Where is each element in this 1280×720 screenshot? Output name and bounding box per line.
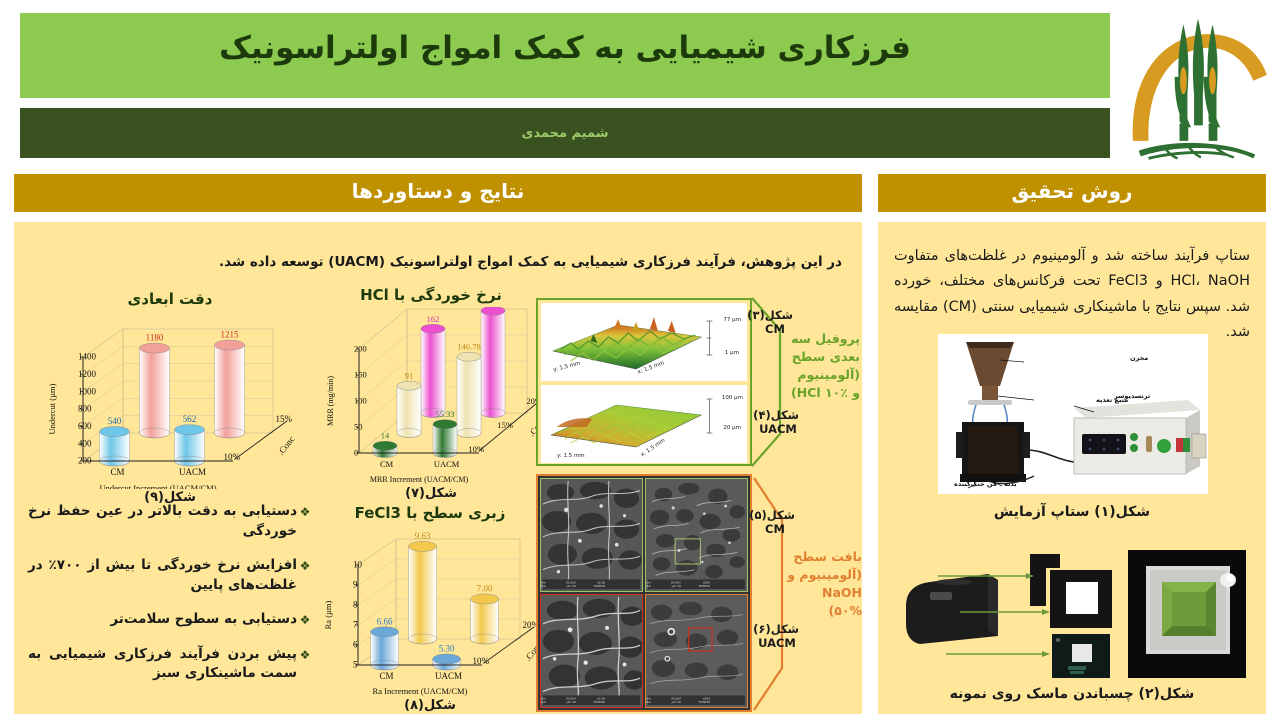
sem-uacm-figure-tag: شکل(۶) UACM bbox=[755, 622, 799, 651]
sem-uacm-method: UACM bbox=[755, 636, 799, 650]
list-item: ❖ افزایش نرخ خوردگی تا بیش از ۷۰۰٪ در غل… bbox=[28, 556, 313, 595]
chart-roughness-plot: 5678910Ra (µm)9.637.006.665.30CMUACMRa I… bbox=[316, 525, 544, 697]
profile-group-caption: پروفیل سه بعدی سطح (آلومینیوم و HCl ۱۰٪) bbox=[786, 330, 860, 403]
university-logo-icon bbox=[1118, 5, 1276, 170]
poster-author-band: شمیم محمدی bbox=[20, 108, 1110, 158]
chart-roughness-title: زبری سطح با FeCl3 bbox=[314, 504, 546, 522]
chart-mrr-title: نرخ خوردگی با HCl bbox=[317, 286, 545, 304]
setup-label-reservoir: مخزن bbox=[1130, 354, 1148, 362]
svg-text:91: 91 bbox=[405, 371, 414, 381]
svg-text:SEM MAG: SEM MAG bbox=[646, 700, 651, 704]
svg-text:50 µm: 50 µm bbox=[672, 700, 681, 704]
svg-text:1000: 1000 bbox=[78, 386, 97, 396]
sem-figure-group: WD 10.5mm20.0kVx500 SEM MAG50 µmTM3030 bbox=[536, 474, 752, 712]
chart-roughness: زبری سطح با FeCl3 5678910Ra (µm)9.637.00… bbox=[314, 504, 546, 713]
svg-text:600: 600 bbox=[78, 421, 92, 431]
setup-label-body: بدنه bbox=[1004, 480, 1017, 488]
bullet-text: افزایش نرخ خوردگی تا بیش از ۷۰۰٪ در غلظت… bbox=[28, 556, 297, 595]
poster-title-band: فرزکاری شیمیایی به کمک امواج اولتراسونیک bbox=[20, 13, 1110, 98]
svg-text:200: 200 bbox=[354, 344, 367, 354]
svg-text:Undercut Increment (UACM/CM): Undercut Increment (UACM/CM) bbox=[99, 483, 216, 489]
svg-text:7: 7 bbox=[353, 620, 358, 630]
svg-text:15%: 15% bbox=[276, 414, 293, 424]
svg-text:Ra Increment (UACM/CM): Ra Increment (UACM/CM) bbox=[373, 686, 468, 696]
svg-text:10%: 10% bbox=[224, 452, 241, 462]
experimental-setup-caption: شکل(۱) ستاپ آزمایش bbox=[878, 504, 1266, 520]
svg-text:100: 100 bbox=[354, 396, 367, 406]
method-panel: ستاپ فرآیند ساخته شد و آلومینیوم در غلظت… bbox=[878, 222, 1266, 714]
svg-text:Undercut (µm): Undercut (µm) bbox=[47, 383, 57, 434]
svg-text:SEM MAG: SEM MAG bbox=[541, 584, 546, 588]
sem-cm-figure-tag: شکل(۵) CM bbox=[755, 508, 795, 537]
poster-title: فرزکاری شیمیایی به کمک امواج اولتراسونیک bbox=[20, 30, 1110, 82]
section-header-method: روش تحقیق bbox=[878, 174, 1266, 212]
list-item: ❖ پیش بردن فرآیند فرزکاری شیمیایی به سمت… bbox=[28, 645, 313, 684]
profile-uacm-zmax-label: 100 µm bbox=[722, 395, 743, 401]
svg-text:CM: CM bbox=[380, 459, 394, 469]
svg-text:20 µm: 20 µm bbox=[567, 700, 576, 704]
chart-undercut-title: دقت ابعادی bbox=[36, 290, 304, 308]
svg-text:UACM: UACM bbox=[179, 467, 206, 477]
svg-text:146.78: 146.78 bbox=[457, 342, 480, 352]
section-header-method-label: روش تحقیق bbox=[1012, 179, 1133, 208]
results-intro-text: در این پژوهش، فرآیند فرزکاری شیمیایی به … bbox=[34, 252, 842, 272]
svg-text:TM3030: TM3030 bbox=[592, 584, 605, 588]
svg-text:162: 162 bbox=[427, 314, 440, 324]
method-body-text: ستاپ فرآیند ساخته شد و آلومینیوم در غلظت… bbox=[894, 244, 1250, 346]
chart-undercut-plot: 200400600800100012001400Undercut (µm)118… bbox=[39, 311, 301, 489]
svg-text:7.00: 7.00 bbox=[477, 584, 493, 594]
svg-text:MRR (mg/min): MRR (mg/min) bbox=[326, 376, 335, 426]
bullet-text: دستیابی به دقت بالاتر در عین حفظ نرخ خور… bbox=[28, 502, 297, 541]
svg-text:Conc.: Conc. bbox=[276, 434, 297, 457]
svg-text:TM3030: TM3030 bbox=[697, 700, 710, 704]
bullet-marker-icon: ❖ bbox=[297, 502, 313, 519]
svg-text:10%: 10% bbox=[468, 444, 484, 454]
bullet-text: پیش بردن فرآیند فرزکاری شیمیایی به سمت م… bbox=[28, 645, 297, 684]
sem-group-caption: بافت سطح (آلومینیوم و NaOH ۵۰%) bbox=[786, 548, 862, 621]
profile-uacm-yaxis-label: y: 1.5 mm bbox=[557, 453, 585, 459]
bullet-marker-icon: ❖ bbox=[297, 556, 313, 573]
profile-uacm-fig-number: شکل(۴) bbox=[757, 408, 799, 422]
svg-text:5.30: 5.30 bbox=[439, 644, 455, 654]
svg-text:10%: 10% bbox=[473, 656, 490, 666]
profile-uacm-figure-tag: شکل(۴) UACM bbox=[757, 408, 799, 437]
svg-text:TM3030: TM3030 bbox=[697, 584, 710, 588]
svg-text:55.33: 55.33 bbox=[435, 409, 454, 419]
surface-profile-image-uacm: 100 µm 20 µm y: 1.5 mm x: 1.5 mm bbox=[541, 385, 747, 463]
svg-text:562: 562 bbox=[183, 414, 197, 424]
svg-text:SEM MAG: SEM MAG bbox=[646, 584, 651, 588]
svg-text:TM3030: TM3030 bbox=[592, 700, 605, 704]
profile-cm-fig-number: شکل(۳) bbox=[757, 308, 793, 322]
chart-mrr: نرخ خوردگی با HCl 050100150200MRR (mg/mi… bbox=[317, 286, 545, 501]
svg-text:CM: CM bbox=[110, 467, 124, 477]
svg-text:20 µm: 20 µm bbox=[567, 584, 576, 588]
svg-text:14: 14 bbox=[381, 431, 390, 441]
svg-text:Ra (µm): Ra (µm) bbox=[323, 600, 333, 629]
svg-text:UACM: UACM bbox=[434, 459, 460, 469]
surface-profile-figure-group: 77 µm 1 µm y: 1.5 mm x: 1.5 mm bbox=[536, 298, 752, 466]
svg-text:SEM MAG: SEM MAG bbox=[541, 700, 546, 704]
setup-label-power-supply: منبع تغذیه bbox=[1096, 396, 1128, 404]
setup-label-cooling-fan: فن خنک‌کننده bbox=[954, 480, 997, 488]
list-item: ❖ دستیابی به سطوح سلامت‌تر bbox=[28, 610, 313, 630]
svg-text:15%: 15% bbox=[497, 420, 513, 430]
mask-photo-caption: شکل(۲) چسباندن ماسک روی نمونه bbox=[878, 686, 1266, 702]
svg-text:800: 800 bbox=[78, 404, 92, 414]
svg-text:1215: 1215 bbox=[221, 330, 240, 340]
svg-text:540: 540 bbox=[108, 416, 122, 426]
svg-text:UACM: UACM bbox=[435, 671, 462, 681]
bullet-marker-icon: ❖ bbox=[297, 610, 313, 627]
svg-text:6.66: 6.66 bbox=[377, 616, 393, 626]
sem-image-cm-overview: WD 10.5mm20.0kVx500 SEM MAG50 µmTM3030 bbox=[645, 478, 748, 592]
svg-text:0: 0 bbox=[354, 448, 358, 458]
profile-uacm-method: UACM bbox=[757, 422, 799, 436]
section-header-results-label: نتایج و دستاوردها bbox=[352, 179, 525, 208]
svg-text:MRR Increment (UACM/CM): MRR Increment (UACM/CM) bbox=[370, 475, 469, 484]
profile-cm-zmin-label: 1 µm bbox=[725, 350, 739, 356]
sem-uacm-fig-number: شکل(۶) bbox=[755, 622, 799, 636]
sem-image-uacm-zoom: WD 10.2mm20.0kVx2.0k SEM MAG20 µmTM3030 bbox=[540, 594, 643, 708]
chart-mrr-plot: 050100150200MRR (mg/min)162196.6791146.7… bbox=[319, 307, 543, 485]
chart-mrr-figure-label: شکل(۷) bbox=[317, 486, 545, 501]
svg-text:8: 8 bbox=[353, 600, 358, 610]
svg-text:1180: 1180 bbox=[146, 333, 164, 343]
svg-text:50: 50 bbox=[354, 422, 363, 432]
sem-image-cm-zoom: WD 10.3mm20.0kVx2.0k SEM MAG20 µmTM3030 bbox=[540, 478, 643, 592]
bullet-marker-icon: ❖ bbox=[297, 645, 313, 662]
surface-profile-image-cm: 77 µm 1 µm y: 1.5 mm x: 1.5 mm bbox=[541, 303, 747, 381]
svg-text:9.63: 9.63 bbox=[415, 531, 431, 541]
svg-text:50 µm: 50 µm bbox=[672, 584, 681, 588]
experimental-setup-photo: مخزن ترنسدیوسر منبع تغذیه بدنه فن خنک‌کن… bbox=[938, 334, 1208, 494]
svg-text:1200: 1200 bbox=[78, 369, 97, 379]
svg-text:1400: 1400 bbox=[78, 352, 97, 362]
sem-image-uacm-overview: WD 10.4mm20.0kVx500 SEM MAG50 µmTM3030 bbox=[645, 594, 748, 708]
svg-text:9: 9 bbox=[353, 580, 358, 590]
svg-text:150: 150 bbox=[354, 370, 367, 380]
chart-roughness-figure-label: شکل(۸) bbox=[314, 698, 546, 713]
poster-author: شمیم محمدی bbox=[521, 126, 608, 141]
sem-cm-fig-number: شکل(۵) bbox=[755, 508, 795, 522]
section-header-results: نتایج و دستاوردها bbox=[14, 174, 862, 212]
svg-text:400: 400 bbox=[78, 438, 92, 448]
list-item: ❖ دستیابی به دقت بالاتر در عین حفظ نرخ خ… bbox=[28, 502, 313, 541]
sem-cm-method: CM bbox=[755, 522, 795, 536]
svg-text:6: 6 bbox=[353, 640, 358, 650]
profile-uacm-zmin-label: 20 µm bbox=[723, 425, 741, 431]
svg-text:10: 10 bbox=[353, 560, 363, 570]
bullet-text: دستیابی به سطوح سلامت‌تر bbox=[28, 610, 297, 630]
svg-text:5: 5 bbox=[353, 660, 358, 670]
profile-cm-zmax-label: 77 µm bbox=[723, 317, 741, 323]
chart-undercut: دقت ابعادی 200400600800100012001400Under… bbox=[36, 290, 304, 505]
results-bullet-list: ❖ دستیابی به دقت بالاتر در عین حفظ نرخ خ… bbox=[28, 502, 313, 699]
svg-text:CM: CM bbox=[380, 671, 394, 681]
poster-root: فرزکاری شیمیایی به کمک امواج اولتراسونیک… bbox=[0, 0, 1280, 720]
mask-photo bbox=[900, 532, 1248, 682]
